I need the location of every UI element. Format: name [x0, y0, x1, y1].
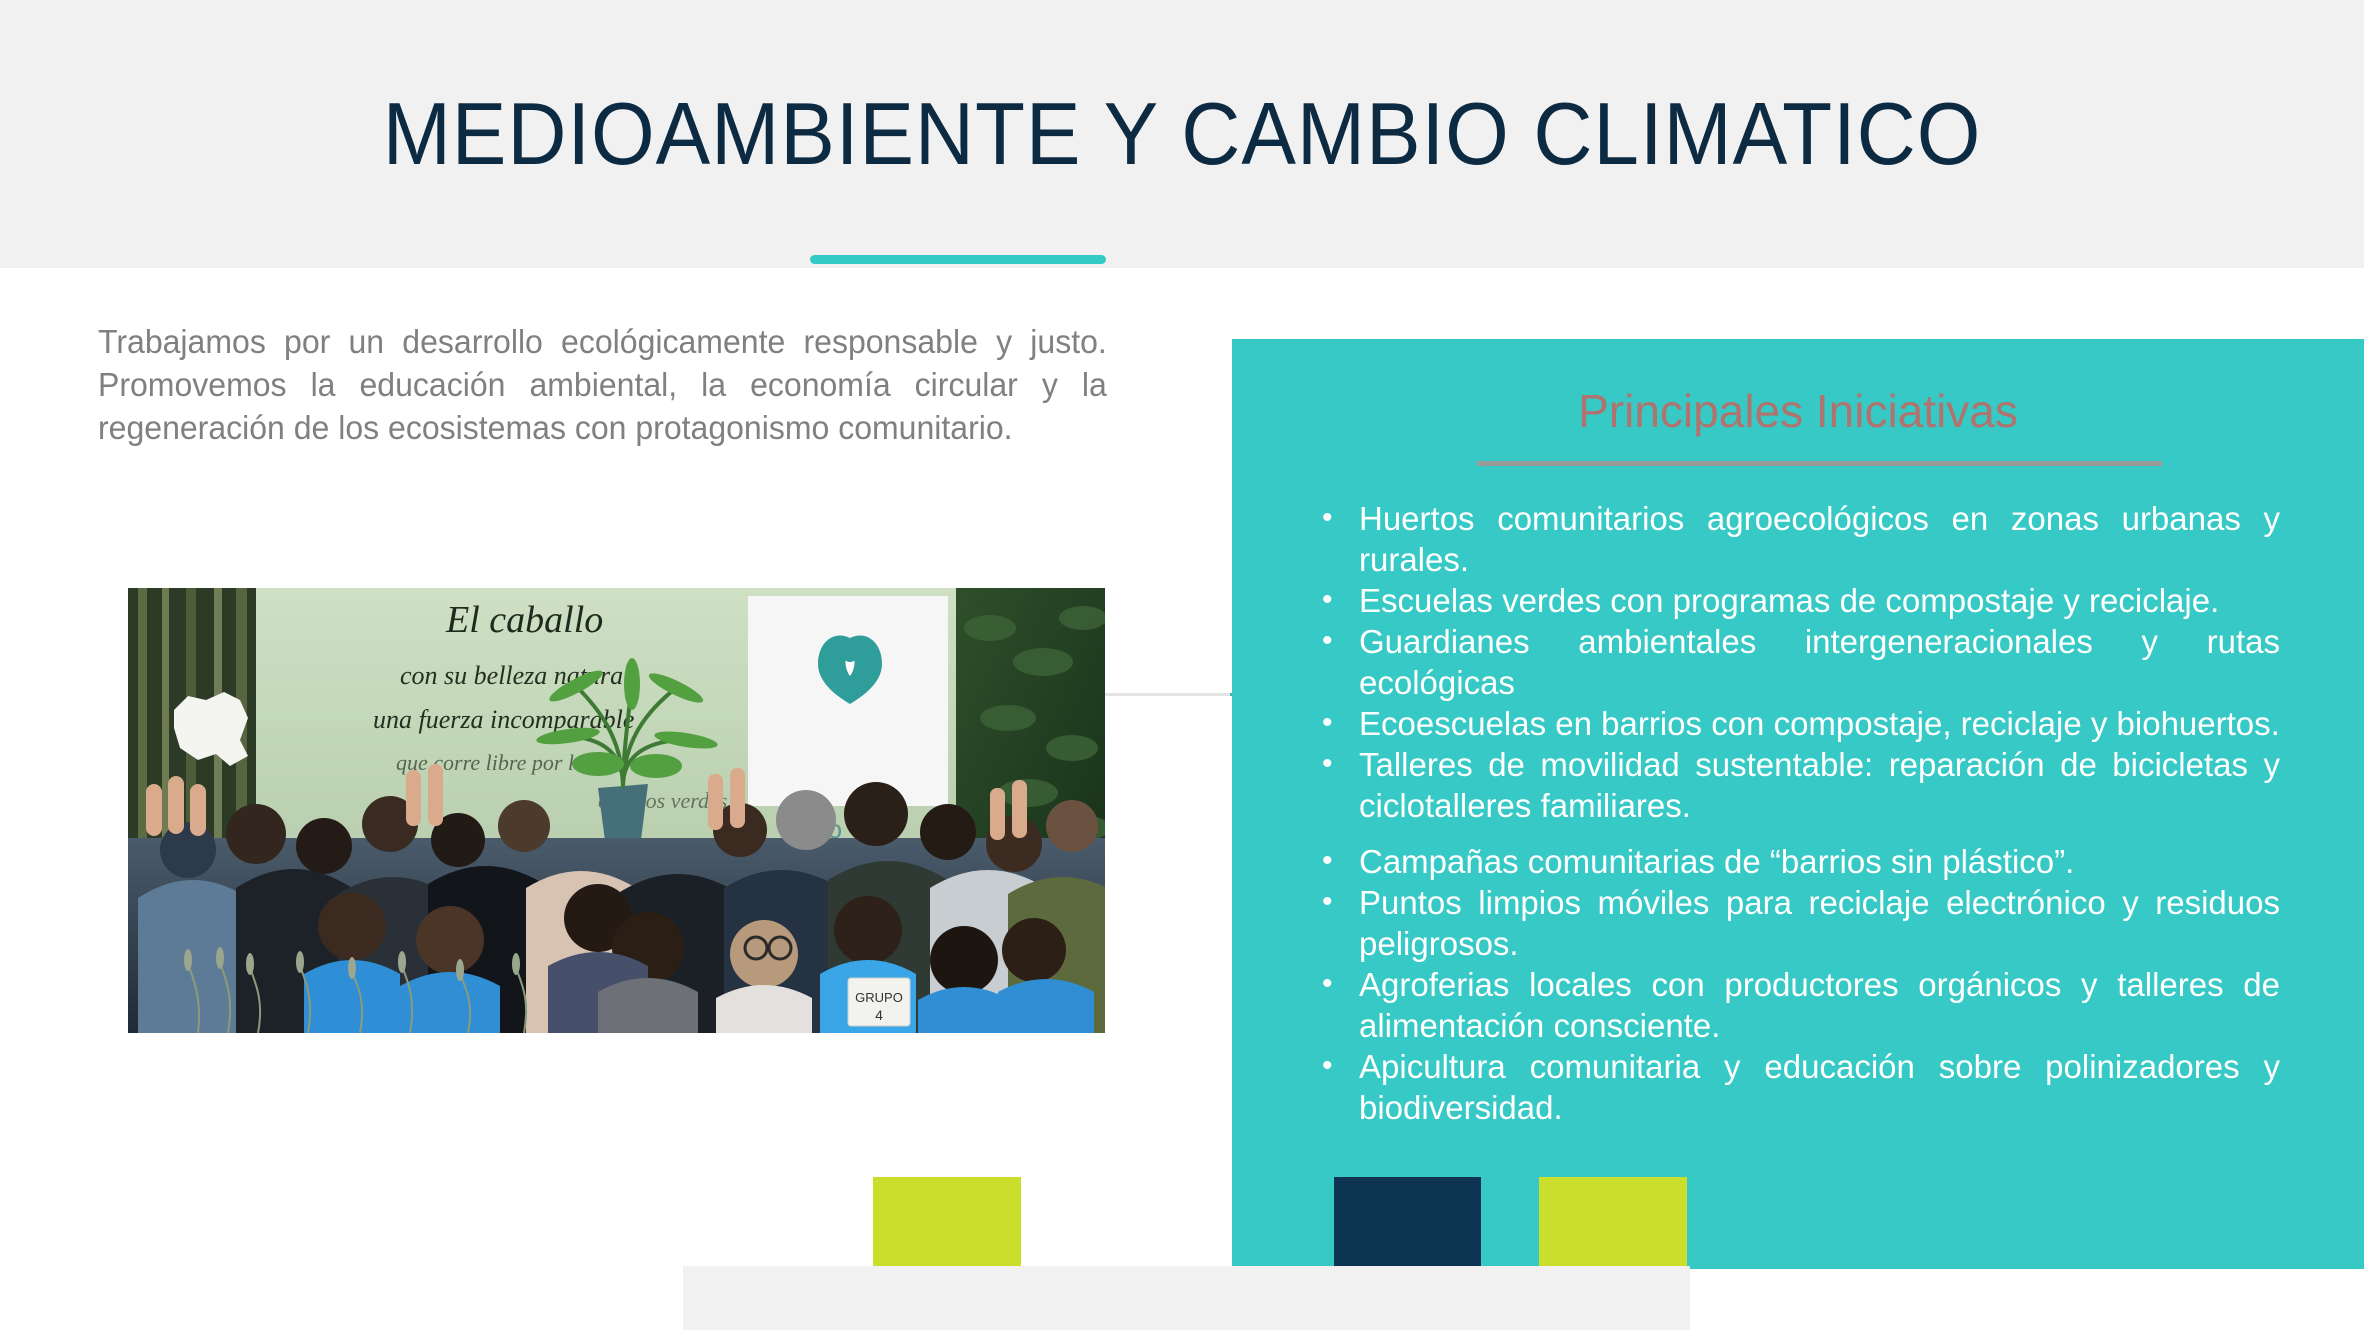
page-title: MEDIOAMBIENTE Y CAMBIO CLIMATICO: [83, 86, 2282, 182]
list-item: Escuelas verdes con programas de compost…: [1320, 580, 2280, 621]
svg-text:El caballo: El caballo: [445, 599, 603, 641]
list-item: Ecoescuelas en barrios con compostaje, r…: [1320, 703, 2280, 744]
list-item-text: Huertos comunitarios agroecológicos en z…: [1359, 500, 2280, 578]
event-photo-illustration: El caballo con su belleza natural, una f…: [128, 588, 1105, 1033]
initiatives-heading: Principales Iniciativas: [1232, 384, 2364, 438]
initiatives-list-top: Huertos comunitarios agroecológicos en z…: [1320, 498, 2280, 826]
event-photo: El caballo con su belleza natural, una f…: [128, 588, 1105, 1033]
list-item-text: Apicultura comunitaria y educación sobre…: [1359, 1048, 2280, 1126]
list-item-text: Guardianes ambientales intergeneracional…: [1359, 623, 2280, 701]
list-item-text: Escuelas verdes con programas de compost…: [1359, 582, 2219, 619]
list-item: Guardianes ambientales intergeneracional…: [1320, 621, 2280, 703]
list-item-text: Ecoescuelas en barrios con compostaje, r…: [1359, 705, 2280, 742]
list-item: Huertos comunitarios agroecológicos en z…: [1320, 498, 2280, 580]
list-item: Agroferias locales con productores orgán…: [1320, 964, 2280, 1046]
list-item-text: Agroferias locales con productores orgán…: [1359, 966, 2280, 1044]
intro-paragraph: Trabajamos por un desarrollo ecológicame…: [98, 320, 1107, 449]
list-item-text: Talleres de movilidad sustentable: repar…: [1359, 746, 2280, 824]
initiatives-heading-rule: [1477, 461, 2162, 466]
initiatives-list-bottom: Campañas comunitarias de “barrios sin pl…: [1320, 841, 2280, 1128]
svg-text:4: 4: [875, 1007, 883, 1023]
list-item: Campañas comunitarias de “barrios sin pl…: [1320, 841, 2280, 882]
bottom-grey-band: [683, 1266, 1690, 1330]
list-item: Talleres de movilidad sustentable: repar…: [1320, 744, 2280, 826]
svg-text:GRUPO: GRUPO: [855, 990, 903, 1005]
list-item: Puntos limpios móviles para reciclaje el…: [1320, 882, 2280, 964]
list-item-text: Campañas comunitarias de “barrios sin pl…: [1359, 843, 2074, 880]
svg-text:que corre libre por los: que corre libre por los: [396, 750, 594, 775]
list-item-text: Puntos limpios móviles para reciclaje el…: [1359, 884, 2280, 962]
list-item: Apicultura comunitaria y educación sobre…: [1320, 1046, 2280, 1128]
title-accent-bar: [810, 255, 1106, 264]
initiatives-panel: Principales Iniciativas Huertos comunita…: [1232, 339, 2364, 1269]
slide-medioambiente: MEDIOAMBIENTE Y CAMBIO CLIMATICO Trabaja…: [0, 0, 2364, 1330]
